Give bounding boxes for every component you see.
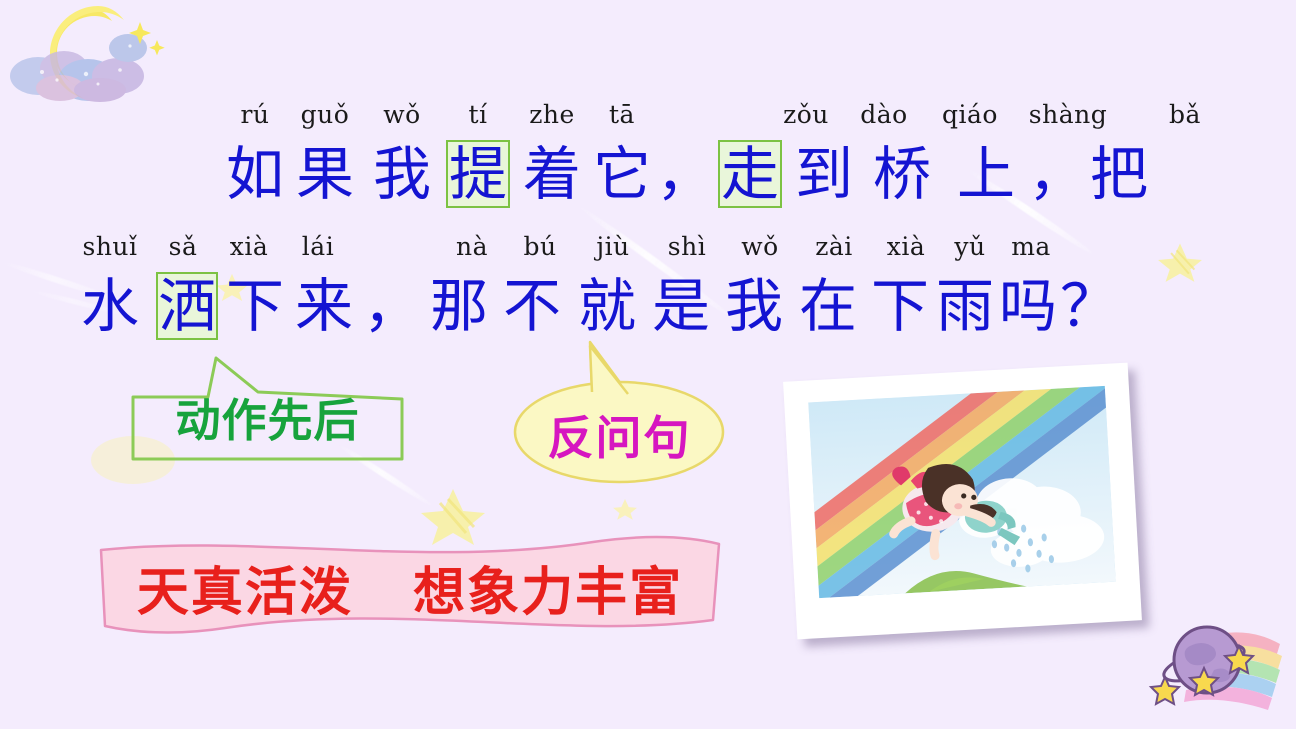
pinyin-syllable: tā [588,100,656,129]
pinyin-syllable: nà [440,232,504,261]
pinyin-syllable: bú [504,232,576,261]
pinyin-syllable: qiáo [924,100,1016,129]
hanzi-char: 不 [494,277,570,335]
hanzi-line-1: 如 果 我 提 着 它 ， 走 到 桥 上 ， 把 [224,138,1152,210]
hanzi-char: 来 [288,277,360,335]
pinyin-syllable: guǒ [286,100,364,129]
pinyin-syllable: lái [284,232,352,261]
punctuation-question-mark: ？ [1060,277,1116,335]
hanzi-char: 如 [224,145,286,203]
pinyin-syllable: zhe [516,100,588,129]
pinyin-syllable: shuǐ [68,232,152,261]
star-icon [1156,240,1204,289]
pinyin-syllable: wǒ [364,100,440,129]
hanzi-line-2: 水 洒 下 来 ， 那 不 就 是 我 在 下 雨 吗 ？ [68,270,1116,342]
pinyin-syllable: shì [650,232,724,261]
pinyin-syllable: dào [844,100,924,129]
pinyin-syllable: ma [1000,232,1062,261]
pinyin-syllable: shàng [1016,100,1120,129]
pinyin-syllable: bǎ [1156,100,1214,129]
hanzi-char: 下 [222,277,288,335]
pinyin-syllable: sǎ [152,232,214,261]
planet-icon [1140,608,1292,726]
callout-action-sequence[interactable]: 动作先后 [130,352,405,462]
star-icon [1156,240,1204,284]
callout-label: 动作先后 [130,384,405,449]
highlighted-char-zou[interactable]: 走 [718,140,782,208]
callout-rhetorical-question[interactable]: 反问句 [512,340,727,485]
star-icon [612,497,638,521]
moon-cloud-decoration [2,2,167,107]
pinyin-syllable: zǒu [768,100,844,129]
pinyin-line-2: shuǐ sǎ xià lái nà bú jiù shì wǒ zài xià… [68,232,1062,261]
pinyin-syllable: xià [872,232,940,261]
hanzi-char: 是 [644,277,718,335]
banner-character-traits[interactable]: 天真活泼 想象力丰富 [95,528,725,640]
punctuation-comma: ， [360,277,424,335]
hanzi-char: 就 [570,277,644,335]
photo-image [808,386,1115,598]
hanzi-char: 桥 [860,145,944,203]
pinyin-syllable: yǔ [940,232,1000,261]
hanzi-char: 果 [286,145,364,203]
hanzi-char: 吗 [996,277,1060,335]
pinyin-syllable: tí [440,100,516,129]
girl-on-rainbow-photo[interactable] [783,363,1142,640]
rainbow-girl-illustration [808,386,1115,598]
pinyin-syllable: xià [214,232,284,261]
hanzi-char: 我 [718,277,790,335]
hanzi-char: 雨 [934,277,996,335]
callout-label: 反问句 [512,402,727,468]
banner-label: 天真活泼 想象力丰富 [95,550,725,625]
planet-rainbow-decoration [1140,608,1292,726]
star-icon [612,497,638,526]
hanzi-char: 到 [788,145,860,203]
pinyin-syllable: wǒ [724,232,796,261]
hanzi-char: 着 [516,145,588,203]
pinyin-line-1: rú guǒ wǒ tí zhe tā zǒu dào qiáo shàng b… [224,100,1214,129]
hanzi-char: 我 [364,145,440,203]
pinyin-syllable: rú [224,100,286,129]
moon-cloud-icon [2,2,167,107]
hanzi-char: 水 [68,277,152,335]
hanzi-char: 在 [790,277,866,335]
hanzi-char: 把 [1086,145,1152,203]
punctuation-comma: ， [1028,145,1086,203]
pinyin-syllable: jiù [576,232,650,261]
slide-canvas: rú guǒ wǒ tí zhe tā zǒu dào qiáo shàng b… [0,0,1296,729]
hanzi-char: 上 [944,145,1028,203]
hanzi-char: 下 [866,277,934,335]
hanzi-char: 它 [588,145,656,203]
highlighted-char-ti[interactable]: 提 [446,140,510,208]
pinyin-syllable: zài [796,232,872,261]
highlighted-char-sa[interactable]: 洒 [156,272,218,340]
punctuation-comma: ， [656,145,712,203]
hanzi-char: 那 [424,277,494,335]
